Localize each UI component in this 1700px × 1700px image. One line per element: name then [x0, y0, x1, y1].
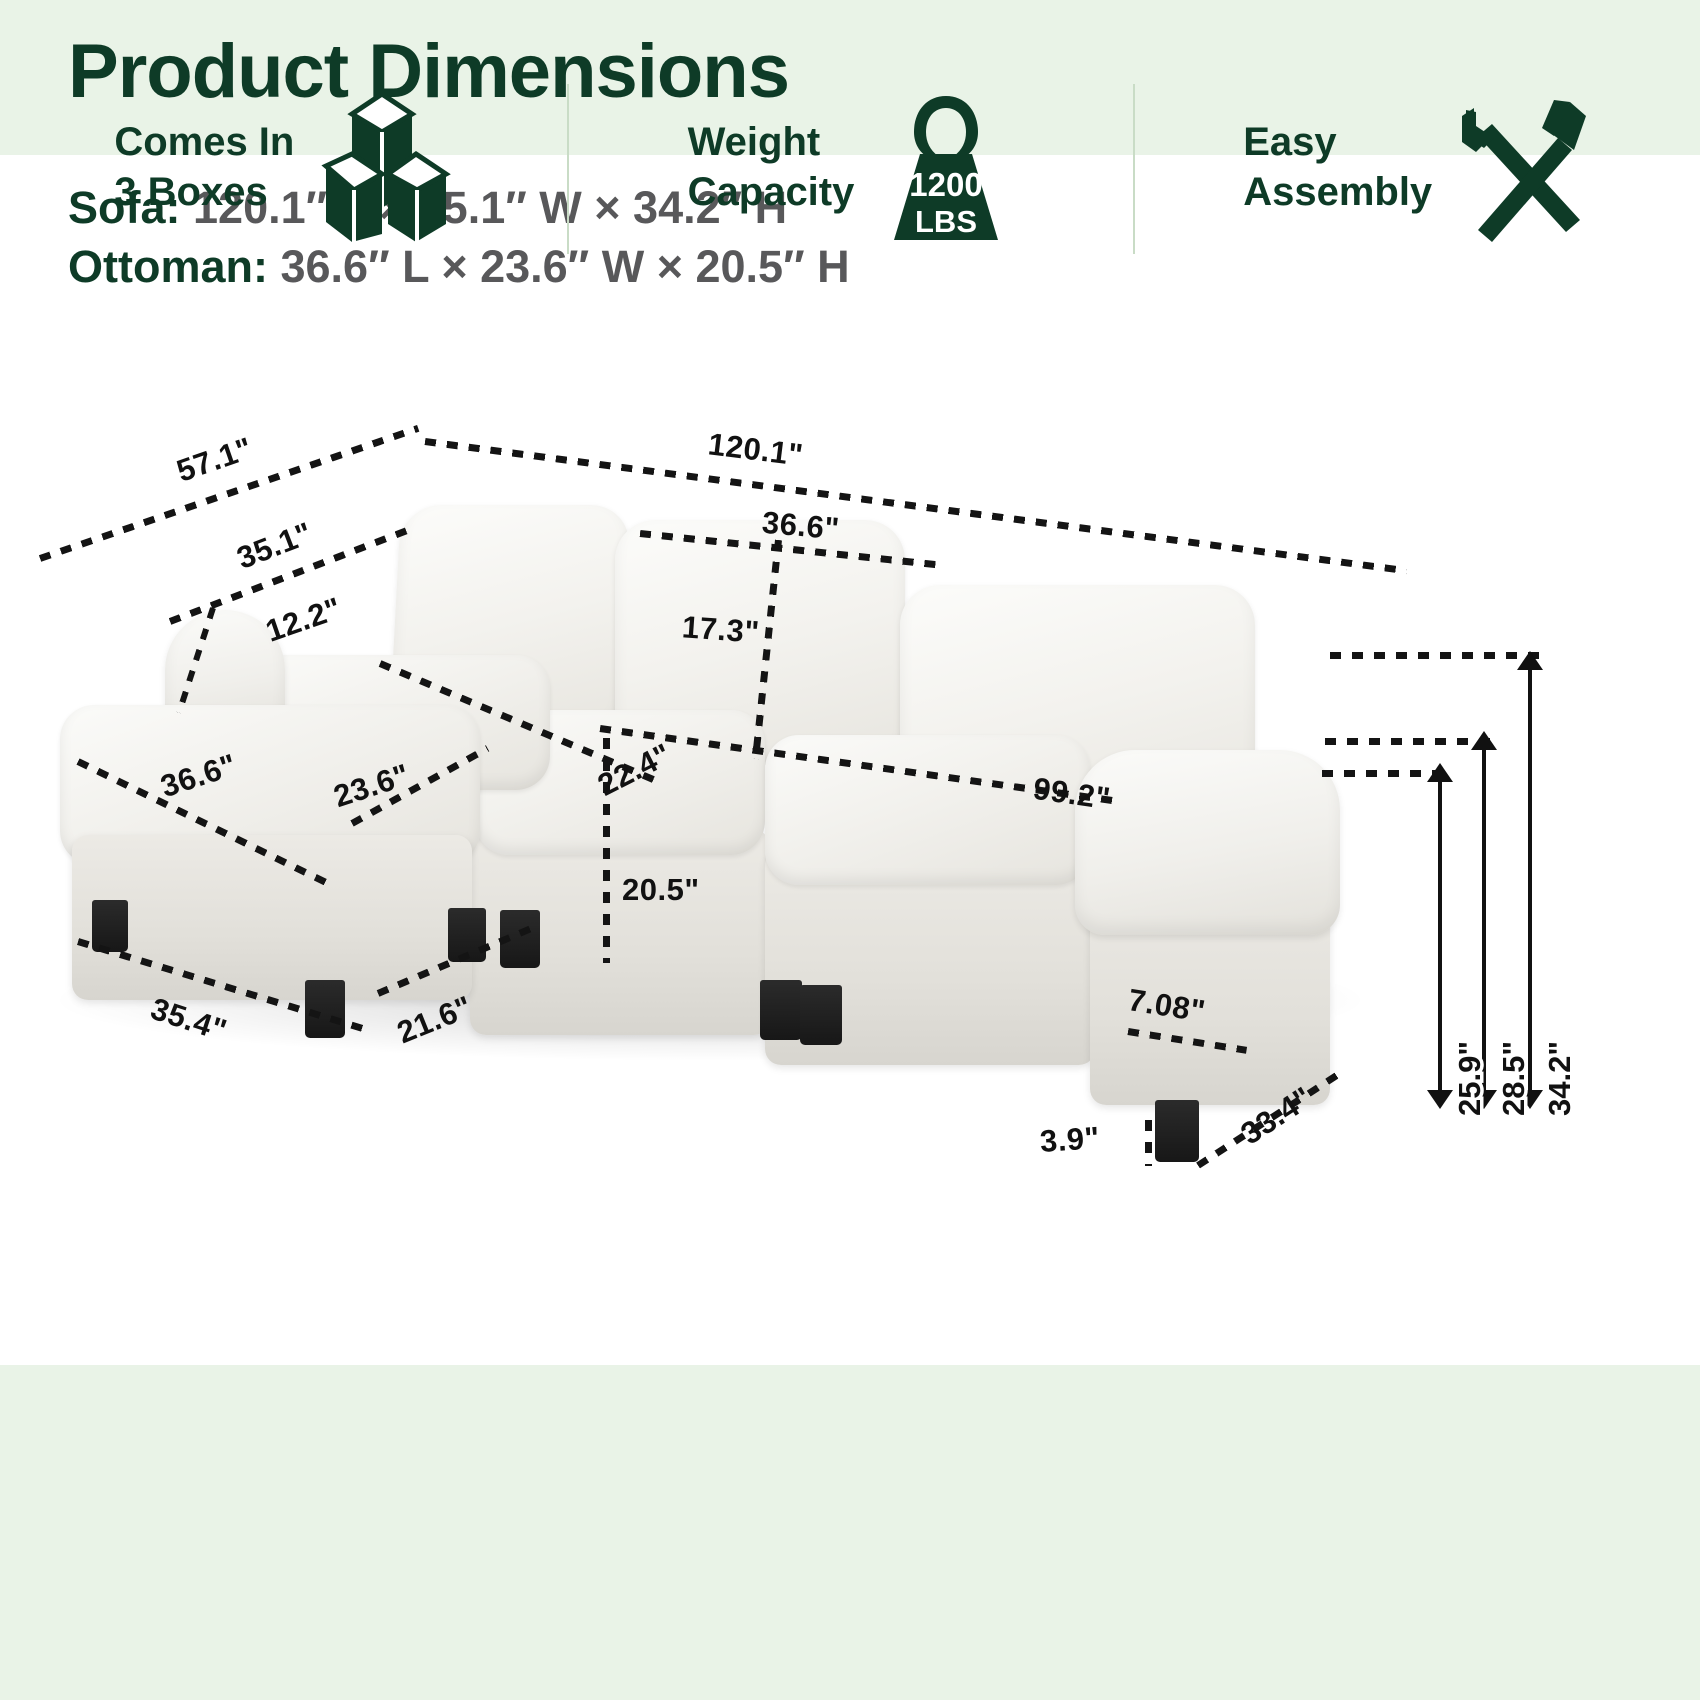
- weight-badge-value: 1200: [910, 166, 983, 203]
- dimline-height-top: [1330, 652, 1540, 659]
- dimline-height-seat: [1322, 770, 1442, 777]
- dimlabel-back-cushion-width-text: 17.3": [681, 609, 761, 649]
- dimlabel-seat-height: 25.9": [1452, 1041, 1488, 1116]
- footer-band: [0, 1365, 1700, 1700]
- dimlabel-seat-height-ottoman-text: 20.5": [622, 872, 700, 907]
- feature-comes-in-boxes: Comes In 3 Boxes: [0, 0, 567, 335]
- dimlabel-seat-height-text: 25.9": [1452, 1041, 1487, 1116]
- sofa-arm-right: [1075, 750, 1340, 935]
- weight-badge-unit: LBS: [915, 204, 977, 239]
- height-arrow-seat: [1438, 780, 1442, 1092]
- dimlabel-seat-module-width-text: 36.6": [761, 505, 841, 547]
- feature-label-boxes: Comes In 3 Boxes: [114, 118, 294, 217]
- dimlabel-overall-length-text: 120.1": [706, 426, 805, 472]
- dimlabel-arm-height-text: 28.5": [1496, 1041, 1531, 1116]
- dimlabel-arm-height: 28.5": [1496, 1041, 1532, 1116]
- dimlabel-back-cushion-width: 17.3": [681, 609, 761, 650]
- height-arrow-total: [1528, 668, 1532, 1092]
- weight-icon: 1200 LBS: [880, 92, 1012, 244]
- dimlabel-leg-height: 3.9": [1039, 1120, 1101, 1160]
- dimlabel-overall-depth-text: 57.1": [172, 430, 257, 488]
- dimlabel-back-cushion-height: 12.2": [261, 590, 346, 649]
- feature-label-assembly: Easy Assembly: [1243, 118, 1432, 217]
- dimlabel-total-height: 34.2": [1542, 1041, 1578, 1116]
- leg-sofa-right: [1155, 1100, 1199, 1162]
- leg-sofa-front-left: [760, 980, 802, 1040]
- dimline-height-arm: [1325, 738, 1490, 745]
- tools-icon: [1458, 92, 1590, 244]
- dimlabel-back-cushion-height-text: 12.2": [261, 590, 346, 648]
- product-diagram: 57.1" 120.1" 35.1" 12.2" 36.6" 17.3" 36.…: [0, 380, 1700, 1280]
- dimlabel-leg-height-text: 3.9": [1039, 1120, 1101, 1159]
- feature-label-weight: Weight Capacity: [688, 118, 855, 217]
- dimlabel-seat-height-ottoman: 20.5": [622, 872, 700, 908]
- leg-sofa-front-right: [800, 985, 842, 1045]
- dimlabel-overall-depth: 57.1": [172, 430, 257, 489]
- dimline-leg-height: [1145, 1120, 1152, 1166]
- feature-strip: Comes In 3 Boxes: [0, 0, 1700, 335]
- dimlabel-overall-length: 120.1": [706, 426, 805, 473]
- feature-easy-assembly: Easy Assembly: [1133, 0, 1700, 335]
- dimlabel-seat-module-width: 36.6": [761, 505, 841, 548]
- boxes-icon: [320, 92, 452, 244]
- dimlabel-total-height-text: 34.2": [1542, 1041, 1577, 1116]
- feature-weight-capacity: Weight Capacity 1200 LBS: [567, 0, 1134, 335]
